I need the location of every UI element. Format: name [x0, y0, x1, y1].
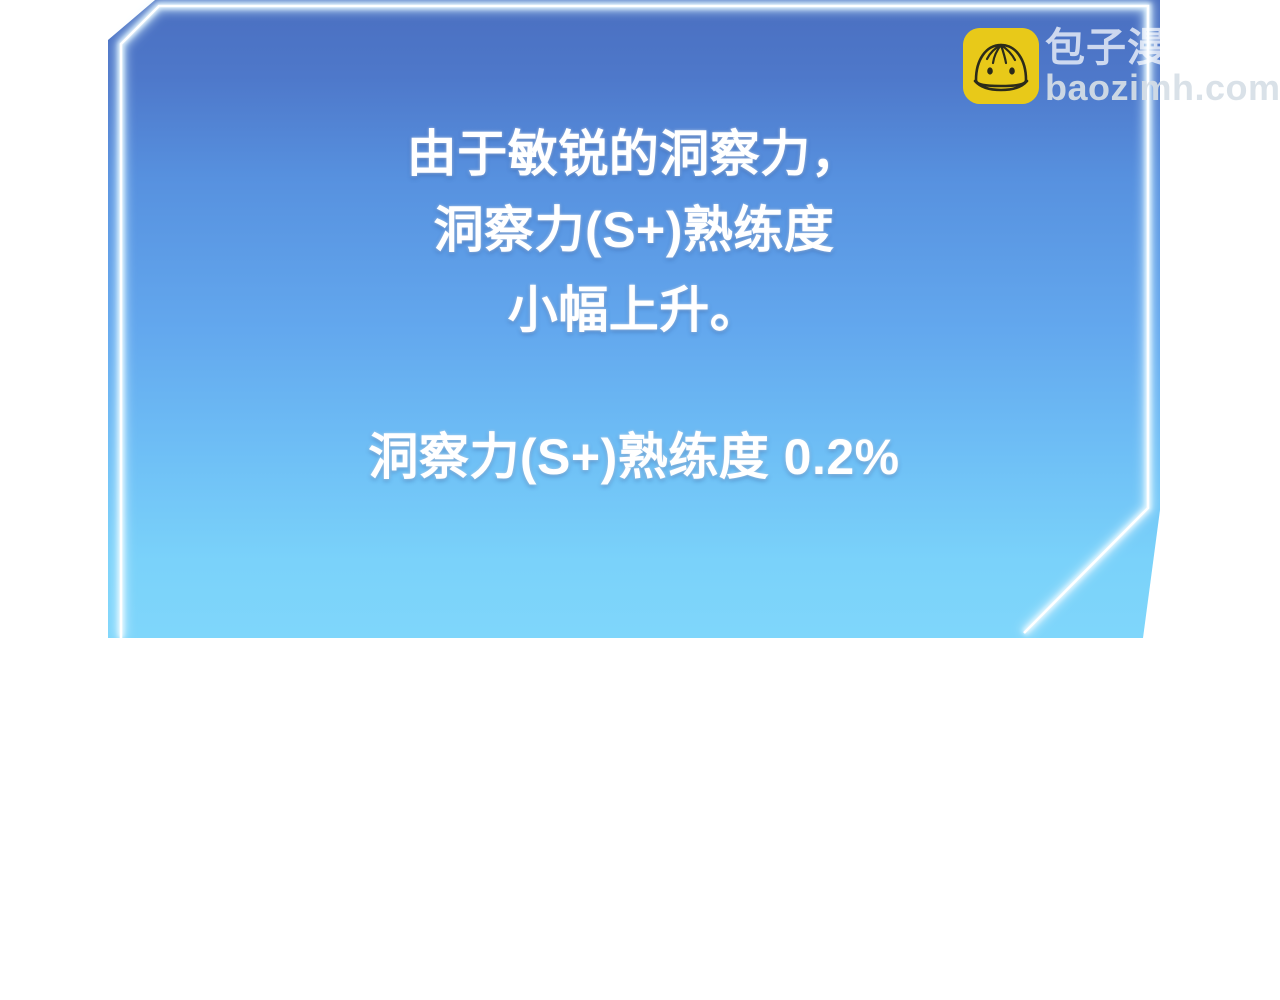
notification-panel — [108, 0, 1160, 638]
page-blank-area — [0, 638, 1280, 1000]
